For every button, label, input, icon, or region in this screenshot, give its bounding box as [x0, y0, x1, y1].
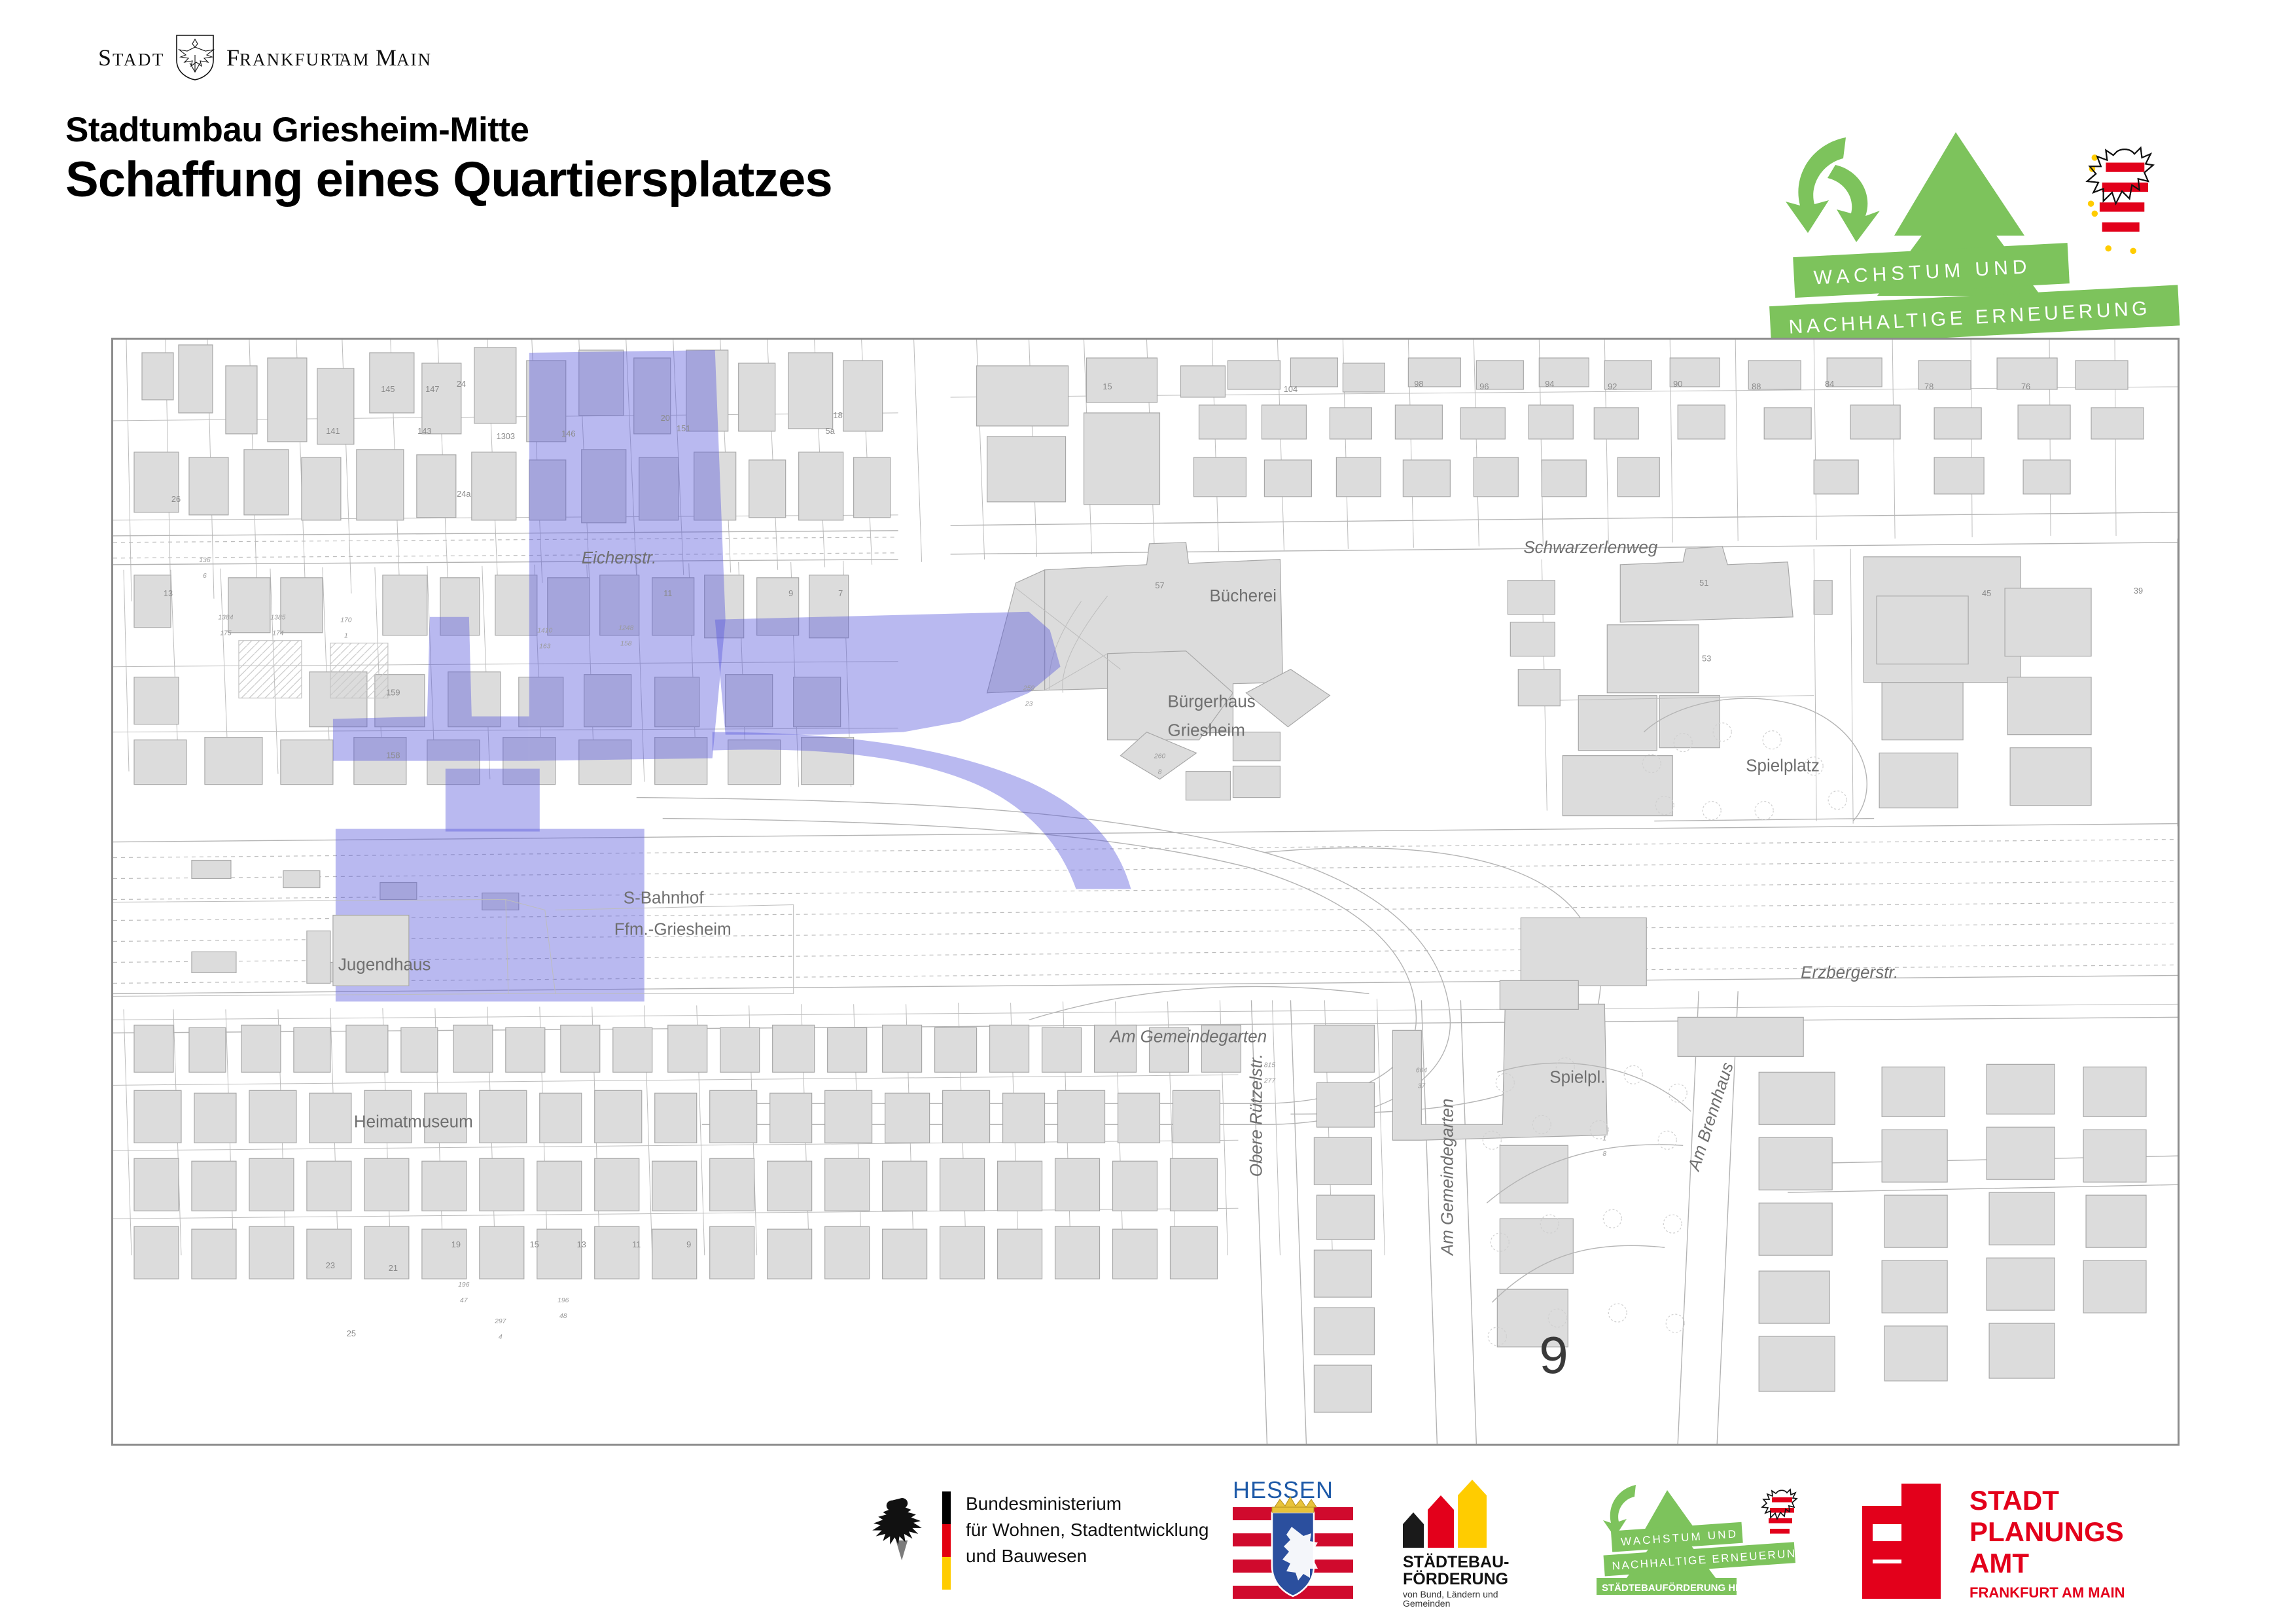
label-buecherei: Bücherei — [1209, 586, 1277, 605]
svg-text:151: 151 — [677, 423, 690, 433]
svg-text:98: 98 — [1414, 379, 1423, 389]
svg-text:57: 57 — [1155, 580, 1164, 590]
svg-text:6: 6 — [203, 573, 207, 580]
city-of-frankfurt-logo: S TADT F RANKFURT AM M AIN — [98, 31, 517, 80]
svg-text:158: 158 — [620, 641, 632, 648]
svg-text:146: 146 — [561, 429, 575, 438]
bmwsb-line3: und Bauwesen — [966, 1546, 1087, 1566]
map-marker-9: 9 — [1539, 1326, 1568, 1384]
staedtebau-line2: FÖRDERUNG — [1403, 1569, 1508, 1588]
map-canvas[interactable]: .bld{fill:#dcdcdc;stroke:#a8a8a8;stroke-… — [113, 340, 2178, 1444]
svg-text:48: 48 — [559, 1313, 567, 1320]
svg-text:84: 84 — [1825, 379, 1834, 389]
svg-text:76: 76 — [2021, 382, 2030, 391]
svg-text:25: 25 — [347, 1329, 356, 1338]
svg-text:260: 260 — [1154, 753, 1166, 760]
label-heimatmuseum: Heimatmuseum — [354, 1111, 473, 1131]
svg-text:94: 94 — [1545, 379, 1554, 389]
bmwsb-logo: Bundesministerium für Wohnen, Stadtentwi… — [870, 1476, 1237, 1607]
svg-text:1248: 1248 — [618, 625, 633, 632]
svg-text:158: 158 — [386, 751, 400, 760]
svg-text:53: 53 — [1702, 654, 1711, 664]
svg-text:159: 159 — [386, 688, 400, 698]
svg-text:9: 9 — [686, 1240, 691, 1249]
spa-line3: AMT — [1969, 1548, 2029, 1578]
wachstum-line3: STÄDTEBAUFÖRDERUNG HESSEN — [1602, 1582, 1769, 1594]
svg-text:15: 15 — [1103, 382, 1112, 391]
footer-logo-row: Bundesministerium für Wohnen, Stadtentwi… — [0, 1476, 2296, 1607]
svg-text:39: 39 — [2134, 586, 2143, 596]
label-spielpl: Spielpl. — [1549, 1067, 1605, 1086]
svg-text:24a: 24a — [457, 489, 471, 499]
svg-text:20: 20 — [661, 413, 670, 423]
page-title: Schaffung eines Quartiersplatzes — [65, 153, 1309, 207]
svg-text:23: 23 — [1025, 701, 1033, 708]
svg-text:163: 163 — [539, 643, 551, 651]
svg-text:S: S — [98, 45, 113, 71]
svg-text:297: 297 — [494, 1318, 507, 1325]
svg-text:141: 141 — [326, 426, 340, 436]
svg-text:196: 196 — [458, 1281, 470, 1289]
svg-text:21: 21 — [389, 1263, 398, 1273]
svg-text:13: 13 — [164, 588, 173, 598]
svg-text:4: 4 — [499, 1334, 503, 1341]
svg-text:1303: 1303 — [497, 431, 515, 441]
label-jugendhaus: Jugendhaus — [338, 954, 431, 974]
svg-text:174: 174 — [272, 630, 284, 637]
spa-line2: PLANUNGS — [1969, 1516, 2124, 1547]
svg-text:24: 24 — [457, 379, 466, 389]
svg-text:19: 19 — [451, 1240, 461, 1249]
street-label-schwarzerlenweg: Schwarzerlenweg — [1523, 537, 1658, 557]
label-s-bahnhof: S-Bahnhof — [624, 887, 705, 907]
street-label-obere-ruetzelstr: Obere Rützelstr. — [1246, 1054, 1265, 1177]
svg-text:104: 104 — [1284, 384, 1298, 394]
street-label-am-gemeindegarten: Am Gemeindegarten — [1109, 1026, 1267, 1046]
svg-text:F: F — [226, 45, 241, 71]
svg-text:45: 45 — [1982, 588, 1991, 598]
svg-text:1385: 1385 — [270, 615, 285, 622]
street-label-am-gemeindegarten-2: Am Gemeindegarten — [1437, 1099, 1457, 1257]
label-ffm-griesheim: Ffm.-Griesheim — [614, 919, 732, 938]
svg-text:136: 136 — [199, 557, 211, 564]
svg-text:47: 47 — [460, 1297, 468, 1304]
svg-text:88: 88 — [1752, 382, 1761, 391]
svg-text:664: 664 — [1416, 1067, 1428, 1074]
svg-text:143: 143 — [417, 426, 431, 436]
svg-text:147: 147 — [425, 384, 439, 394]
svg-text:13: 13 — [577, 1240, 586, 1249]
wachstum-hessen-logo: WACHSTUM UND NACHHALTIGE ERNEUERUNG STÄD… — [1597, 1476, 1858, 1607]
spa-line1: STADT — [1969, 1485, 2059, 1516]
svg-text:11: 11 — [663, 588, 672, 598]
svg-text:23: 23 — [326, 1260, 335, 1270]
svg-text:9: 9 — [788, 588, 793, 598]
hessen-wordmark: HESSEN — [1233, 1476, 1333, 1503]
label-buergerhaus: Bürgerhaus — [1167, 692, 1255, 711]
svg-text:RANKFURT: RANKFURT — [239, 50, 344, 69]
svg-text:5a: 5a — [826, 426, 836, 436]
svg-text:26: 26 — [171, 494, 181, 504]
street-label-erzbergerstr: Erzbergerstr. — [1801, 962, 1898, 982]
svg-text:AM: AM — [339, 50, 370, 69]
svg-text:90: 90 — [1673, 379, 1682, 389]
svg-text:170: 170 — [340, 617, 352, 624]
staedtebau-line1: STÄDTEBAU- — [1403, 1553, 1510, 1571]
staedtebaufoerderung-logo: STÄDTEBAU- FÖRDERUNG von Bund, Ländern u… — [1394, 1476, 1590, 1607]
svg-text:8: 8 — [1158, 769, 1162, 776]
cadastral-map[interactable]: .bld{fill:#dcdcdc;stroke:#a8a8a8;stroke-… — [111, 338, 2180, 1446]
svg-text:196: 196 — [557, 1297, 569, 1304]
label-spielplatz: Spielplatz — [1746, 756, 1820, 776]
svg-text:1: 1 — [344, 633, 348, 640]
bmwsb-line1: Bundesministerium — [966, 1493, 1122, 1514]
svg-text:18: 18 — [834, 410, 843, 420]
svg-text:1410: 1410 — [537, 628, 552, 635]
staedtebau-sub2: Gemeinden — [1403, 1598, 1450, 1607]
svg-text:7: 7 — [838, 588, 843, 598]
street-label-eichenstr: Eichenstr. — [582, 548, 657, 567]
svg-text:8: 8 — [1602, 1150, 1606, 1158]
svg-text:145: 145 — [381, 384, 395, 394]
svg-text:1: 1 — [1602, 1135, 1606, 1142]
spa-line4: FRANKFURT AM MAIN — [1969, 1584, 2125, 1601]
svg-text:AIN: AIN — [397, 50, 432, 69]
svg-text:M: M — [376, 45, 398, 71]
bmwsb-line2: für Wohnen, Stadtentwicklung — [966, 1520, 1209, 1540]
svg-text:1384: 1384 — [218, 615, 233, 622]
label-griesheim: Griesheim — [1167, 721, 1245, 740]
svg-text:92: 92 — [1608, 382, 1617, 391]
hessen-state-logo: HESSEN — [1224, 1476, 1374, 1607]
svg-text:51: 51 — [1699, 578, 1708, 588]
svg-text:259: 259 — [1023, 685, 1035, 692]
svg-text:78: 78 — [1924, 382, 1934, 391]
project-subtitle: Stadtumbau Griesheim-Mitte — [65, 111, 1309, 149]
svg-text:175: 175 — [220, 630, 232, 637]
svg-text:15: 15 — [530, 1240, 539, 1249]
svg-text:37: 37 — [1418, 1082, 1426, 1090]
stadtplanungsamt-logo: STADT PLANUNGS AMT FRANKFURT AM MAIN — [1852, 1476, 2218, 1607]
svg-text:TADT: TADT — [113, 50, 165, 69]
svg-text:96: 96 — [1479, 382, 1489, 391]
title-block: Stadtumbau Griesheim-Mitte Schaffung ein… — [65, 111, 1309, 207]
svg-text:11: 11 — [632, 1240, 641, 1249]
